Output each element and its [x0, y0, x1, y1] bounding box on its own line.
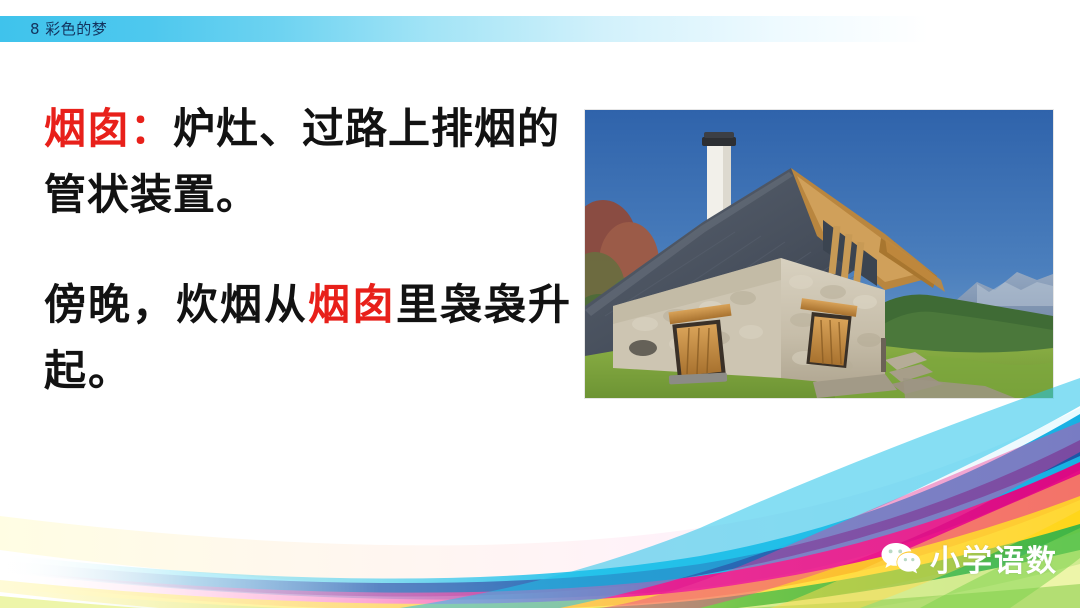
text-column: 烟囱：炉灶、过路上排烟的管状装置。 傍晚，炊烟从烟囱里袅袅升起。 [44, 96, 584, 404]
example-sentence-paragraph: 傍晚，炊烟从烟囱里袅袅升起。 [44, 272, 584, 404]
slide-canvas: 8 彩色的梦 烟囱：炉灶、过路上排烟的管状装置。 傍晚，炊烟从烟囱里袅袅升起。 [0, 0, 1080, 608]
watermark-text: 小学语数 [930, 536, 1058, 580]
header-band [0, 16, 1080, 42]
stone-house-photo [585, 110, 1053, 398]
wechat-icon [880, 540, 922, 576]
definition-term: 烟囱： [44, 104, 173, 153]
example-term: 烟囱 [308, 280, 396, 329]
example-before: 傍晚，炊烟从 [44, 280, 308, 329]
watermark: 小学语数 [880, 535, 1058, 581]
definition-paragraph: 烟囱：炉灶、过路上排烟的管状装置。 [44, 96, 584, 228]
page-title: 8 彩色的梦 [30, 17, 107, 41]
